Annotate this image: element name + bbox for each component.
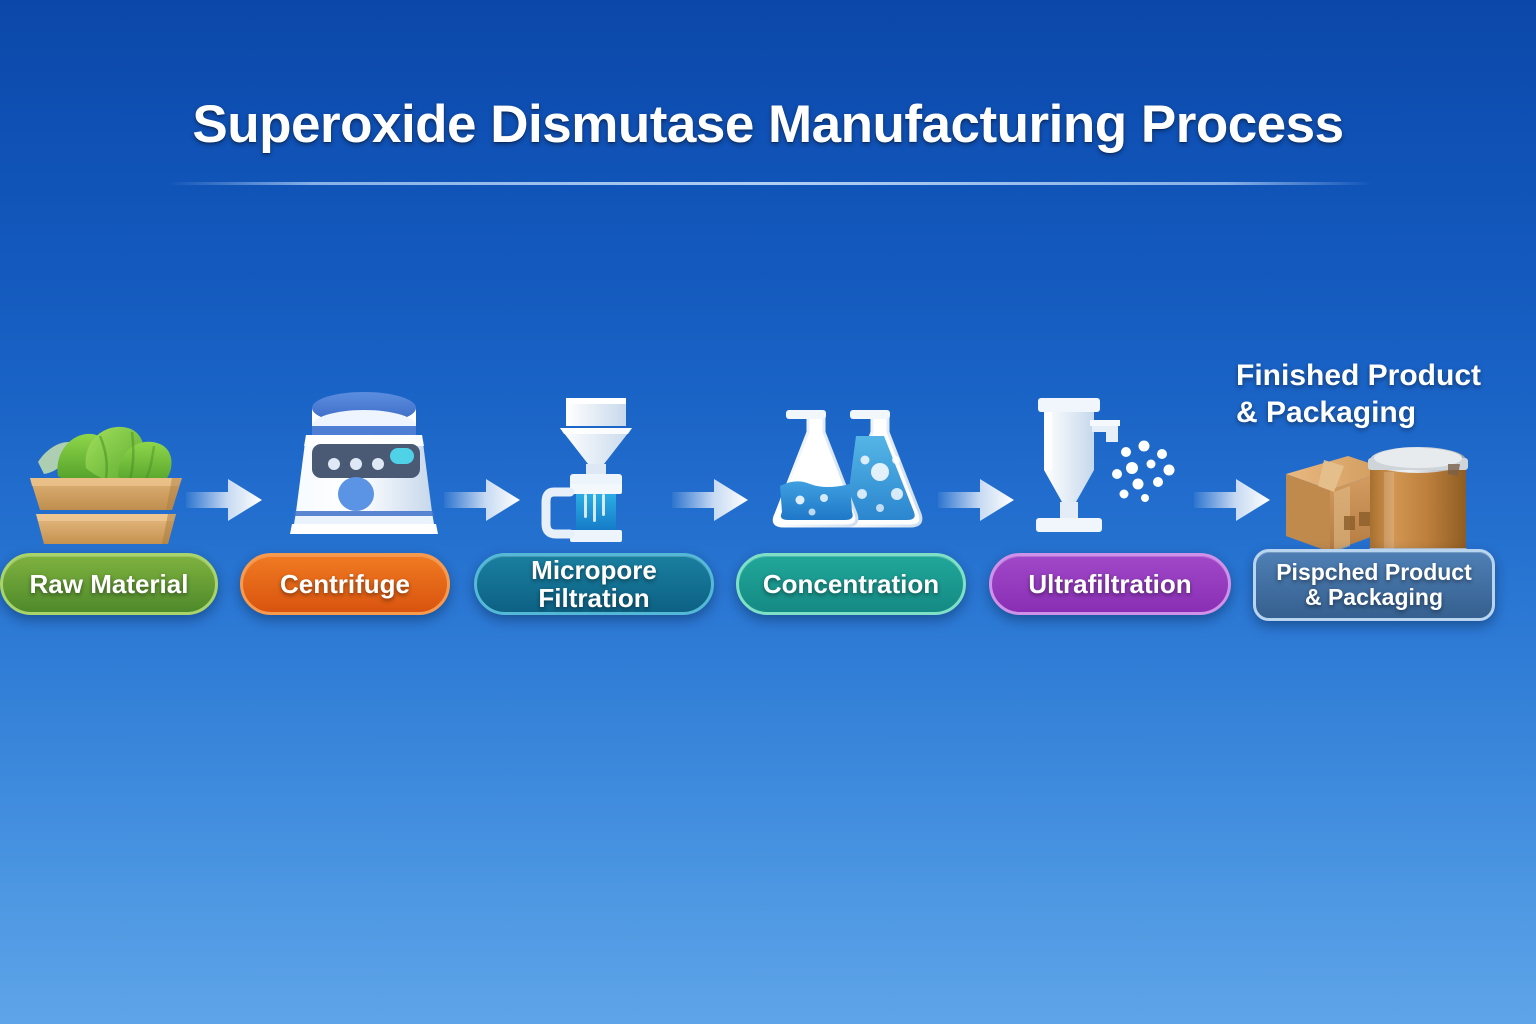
step-icon-raw-material [14,402,214,562]
step-pill-concentration[interactable]: Concentration [736,553,966,615]
step-label-finished-product: Pispched Product & Packaging [1262,560,1486,610]
step-pill-micropore-filtration[interactable]: Micropore Filtration [474,553,714,615]
finished-product-caption: Finished Product & Packaging [1236,358,1536,431]
step-icon-centrifuge [272,384,472,544]
title-block: Superoxide Dismutase Manufacturing Proce… [0,96,1536,154]
right-arrow-icon [186,477,262,523]
flow-arrow-4 [938,477,1014,523]
flow-arrow-5 [1194,477,1270,523]
right-arrow-icon [938,477,1014,523]
step-pill-centrifuge[interactable]: Centrifuge [240,553,450,615]
title-divider [168,182,1372,185]
flow-arrow-1 [186,477,262,523]
step-pill-ultrafiltration[interactable]: Ultrafiltration [989,553,1231,615]
ultrafiltration-vessel-icon [1014,384,1214,544]
vegetable-crate-icon [14,402,214,562]
step-label-raw-material: Raw Material [16,570,203,598]
step-icon-concentration [752,390,952,550]
right-arrow-icon [444,477,520,523]
step-label-concentration: Concentration [749,570,953,598]
step-label-ultrafiltration: Ultrafiltration [1014,570,1205,598]
step-pill-raw-material[interactable]: Raw Material [0,553,218,615]
right-arrow-icon [1194,477,1270,523]
page-title: Superoxide Dismutase Manufacturing Proce… [0,96,1536,154]
erlenmeyer-flasks-icon [752,390,952,550]
step-label-centrifuge: Centrifuge [266,570,424,598]
infographic-canvas: Superoxide Dismutase Manufacturing Proce… [0,0,1536,1024]
right-arrow-icon [672,477,748,523]
step-icon-ultrafiltration [1014,384,1214,544]
flow-arrow-2 [444,477,520,523]
flow-arrow-3 [672,477,748,523]
step-pill-finished-product[interactable]: Pispched Product & Packaging [1253,549,1495,621]
centrifuge-machine-icon [272,384,472,544]
step-label-micropore-filtration: Micropore Filtration [477,556,711,612]
